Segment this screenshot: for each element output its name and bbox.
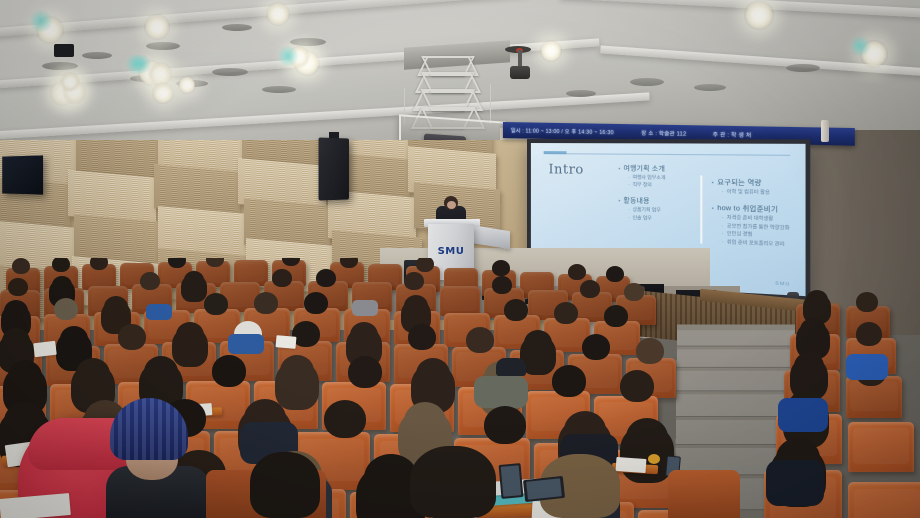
attendee — [184, 271, 204, 289]
attendee — [54, 298, 78, 320]
attendee-jacket — [146, 304, 172, 320]
banner-host-text: 주 관 : 학 생 처 — [713, 130, 752, 138]
attendee — [568, 264, 586, 280]
attendee — [626, 418, 668, 456]
foreground-attendee-hair — [250, 452, 320, 518]
attendee — [272, 269, 292, 287]
attendee-jacket — [766, 460, 824, 506]
slide-rule — [543, 153, 790, 156]
attendee — [416, 358, 450, 390]
attendee — [416, 258, 434, 272]
attendee — [204, 293, 228, 315]
seat — [848, 422, 914, 472]
seat — [440, 286, 480, 316]
slide-bullet: 활동내용 — [618, 194, 694, 206]
attendee — [52, 258, 70, 272]
attendee — [206, 258, 224, 267]
lift-guide-rod — [490, 84, 491, 124]
attendee — [350, 322, 378, 348]
slide-bullet: 요구되는 역량 — [712, 176, 800, 188]
attendee — [408, 324, 436, 350]
attendee — [620, 370, 654, 402]
slide-bullet: how to 취업준비기 — [712, 202, 800, 215]
downlight-icon — [60, 72, 80, 92]
banner-time-text: 일시 : 11:00 ~ 13:00 / 오 후 14:30 ~ 16:30 — [511, 127, 614, 136]
downlight-icon — [144, 14, 170, 40]
attendee — [806, 290, 828, 310]
lecture-hall-photo: 일시 : 11:00 ~ 13:00 / 오 후 14:30 ~ 16:30 장… — [0, 0, 920, 518]
attendee — [800, 318, 826, 342]
ceiling-vent — [630, 78, 664, 86]
slide-sub-bullet: 여행사 업무소개 — [628, 174, 695, 181]
downlight-icon — [178, 76, 196, 94]
smartphone — [499, 463, 524, 499]
ceiling-vent — [694, 84, 726, 91]
slide-left-column: 여행기획 소개 여행사 업무소개 직무 정의 활동내용 상품기획 업무 인솔 업… — [618, 162, 694, 225]
attendee — [636, 338, 664, 364]
foreground-attendee-hair — [410, 446, 496, 518]
attendee-jacket — [778, 398, 828, 432]
attendee — [624, 283, 644, 301]
attendee-cap — [496, 358, 526, 376]
attendee — [580, 280, 600, 298]
attendee — [606, 266, 624, 282]
ceiling-vent — [146, 42, 180, 50]
attendee-jacket — [846, 354, 888, 380]
attendee — [8, 278, 28, 296]
ceiling-vent — [222, 24, 252, 31]
light-glow — [848, 36, 872, 56]
podium-logo: SMU — [428, 246, 474, 257]
attendee — [582, 334, 610, 360]
light-glow — [130, 54, 152, 74]
slide-sub-bullet: 상품기획 업무 — [628, 207, 695, 215]
ceiling-camera — [54, 44, 74, 57]
seat — [848, 482, 920, 518]
light-glow — [28, 10, 54, 32]
slide-title: Intro — [548, 163, 583, 179]
ceiling-vent — [566, 90, 596, 97]
attendee — [52, 276, 72, 294]
attendee — [794, 352, 824, 380]
attendee — [404, 295, 428, 317]
sprinkler-head — [510, 66, 530, 79]
ceiling-vent — [212, 68, 248, 76]
attendee — [552, 365, 586, 397]
attendee-jacket — [352, 300, 378, 316]
downlight-icon — [744, 0, 774, 30]
ceiling-vent — [42, 62, 78, 70]
slide-sub-bullet: 어학 및 컴퓨터 활용 — [722, 189, 800, 197]
attendee — [292, 321, 320, 347]
banner-place-text: 장 소 : 학술관 112 — [641, 129, 686, 137]
attendee — [280, 355, 314, 387]
downlight-icon — [152, 82, 174, 104]
attendee — [168, 258, 186, 268]
attendee — [324, 400, 366, 438]
attendee-jacket — [228, 334, 264, 354]
attendee — [4, 300, 28, 322]
ceiling-beam — [560, 0, 920, 19]
attendee — [60, 326, 88, 352]
attendee-jacket — [474, 376, 528, 408]
light-glow — [276, 46, 300, 66]
handout — [33, 341, 57, 358]
slide-bullet: 여행기획 소개 — [618, 162, 694, 173]
attendee — [856, 322, 882, 346]
attendee — [466, 327, 494, 353]
attendee — [404, 402, 446, 440]
ceiling-beam — [0, 0, 529, 39]
attendee — [484, 406, 526, 444]
screen-roller-housing — [821, 120, 829, 142]
attendee — [304, 292, 328, 314]
attendee — [212, 355, 246, 387]
attendee — [140, 272, 160, 290]
smartphone — [523, 476, 565, 502]
attendee — [348, 356, 382, 388]
presenter-face — [447, 201, 456, 209]
attendee — [524, 330, 552, 356]
attendee — [492, 260, 510, 276]
attendee — [282, 258, 300, 266]
attendee — [504, 299, 528, 321]
attendee — [2, 328, 30, 354]
slide-divider — [700, 176, 702, 244]
attendee — [254, 292, 278, 314]
attendee — [118, 324, 146, 350]
slide-sub-bullet: 인솔 업무 — [628, 215, 695, 223]
seat — [668, 470, 740, 518]
attendee — [8, 360, 42, 392]
attendee — [144, 356, 178, 388]
attendee — [492, 276, 512, 294]
wall-monitor-icon — [2, 155, 43, 194]
slide-sub-bullet: 취업 준비 포트폴리오 관리 — [722, 239, 800, 248]
attendee — [554, 302, 578, 324]
attendee — [90, 258, 108, 270]
slide-sub-bullet: 직무 정의 — [628, 182, 695, 190]
handout — [616, 457, 647, 473]
attendee — [316, 269, 336, 287]
attendee — [76, 358, 110, 390]
attendee — [856, 292, 878, 312]
slide-right-column: 요구되는 역량 어학 및 컴퓨터 활용 how to 취업준비기 자격증 준비 … — [712, 176, 800, 250]
downlight-icon — [266, 2, 290, 26]
ceiling-vent — [262, 86, 296, 93]
attendee — [12, 258, 30, 274]
loudspeaker-icon — [319, 137, 349, 200]
ceiling-vent — [82, 52, 112, 59]
ceiling-vent — [290, 38, 326, 46]
attendee — [176, 322, 204, 348]
small-item — [648, 454, 660, 464]
handout — [276, 335, 297, 349]
downlight-icon — [540, 40, 562, 62]
ceiling-vent — [786, 64, 820, 72]
attendee — [604, 305, 628, 327]
attendee — [340, 258, 358, 268]
attendee — [104, 296, 128, 318]
attendee — [404, 272, 424, 290]
